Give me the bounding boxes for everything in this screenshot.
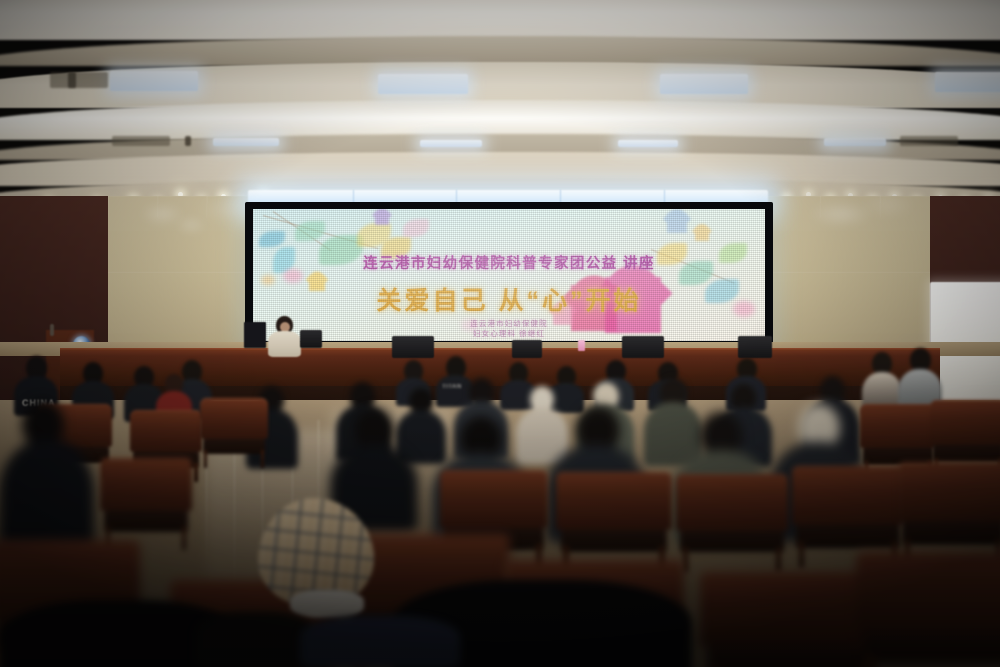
stage-monitor xyxy=(512,340,542,358)
foreground-dark-item xyxy=(196,612,316,667)
slide-subtitle-line2: 妇女心理科 徐继红 xyxy=(253,329,765,339)
air-vent xyxy=(185,136,191,146)
photo-scene: 连云港市妇幼保健院科普专家团公益 讲座 关爱自己 从“心”开始 连云港市妇幼保健… xyxy=(0,0,1000,667)
slide-subtitle: 连云港市妇幼保健院 妇女心理科 徐继红 xyxy=(253,319,765,338)
stage-monitor xyxy=(738,336,772,358)
heart-decoration xyxy=(375,211,389,225)
chair[interactable] xyxy=(898,462,1000,566)
ceiling xyxy=(0,0,1000,212)
person-torso xyxy=(0,440,94,552)
chair[interactable] xyxy=(100,458,192,550)
slide-header: 连云港市妇幼保健院科普专家团公益 讲座 xyxy=(253,252,765,273)
slide-subtitle-line1: 连云港市妇幼保健院 xyxy=(253,319,765,329)
chair[interactable] xyxy=(700,572,880,667)
ceiling-panel-light xyxy=(110,71,198,91)
ceiling-panel-light xyxy=(378,74,468,94)
ceiling-panel-light xyxy=(660,74,748,94)
presenter-torso xyxy=(268,331,301,357)
chair[interactable] xyxy=(676,474,788,572)
air-vent xyxy=(68,72,76,88)
leaf-decoration xyxy=(403,219,429,237)
chair[interactable] xyxy=(556,472,672,572)
chair[interactable] xyxy=(856,552,1000,667)
air-vent xyxy=(50,72,108,88)
slide-title: 关爱自己 从“心”开始 xyxy=(253,281,765,317)
ceiling-panel-light xyxy=(420,140,482,147)
paper-cup xyxy=(578,340,585,351)
air-vent xyxy=(900,136,958,146)
foreground-blue-item xyxy=(300,616,460,667)
slide-surface: 连云港市妇幼保健院科普专家团公益 讲座 关爱自己 从“心”开始 连云港市妇幼保健… xyxy=(253,209,765,341)
stage-monitor xyxy=(622,336,664,358)
chair[interactable] xyxy=(200,398,268,468)
ceiling-panel-light xyxy=(213,138,279,146)
leaf-decoration xyxy=(259,231,285,247)
stage-monitor xyxy=(392,336,434,358)
heart-decoration xyxy=(695,227,709,241)
leaf-decoration xyxy=(295,221,325,241)
heart-decoration xyxy=(667,213,687,233)
presenter-monitor xyxy=(300,330,322,348)
led-screen: 连云港市妇幼保健院科普专家团公益 讲座 关爱自己 从“心”开始 连云港市妇幼保健… xyxy=(245,202,773,348)
ceiling-panel-light xyxy=(824,138,886,146)
audience-person xyxy=(0,400,94,550)
ceiling-panel-light xyxy=(935,72,1000,92)
ceiling-panel-light xyxy=(618,140,678,147)
podium-mic xyxy=(50,324,54,336)
laptop xyxy=(244,322,266,348)
plaid-bag-strap xyxy=(290,590,364,618)
air-vent xyxy=(112,136,170,146)
